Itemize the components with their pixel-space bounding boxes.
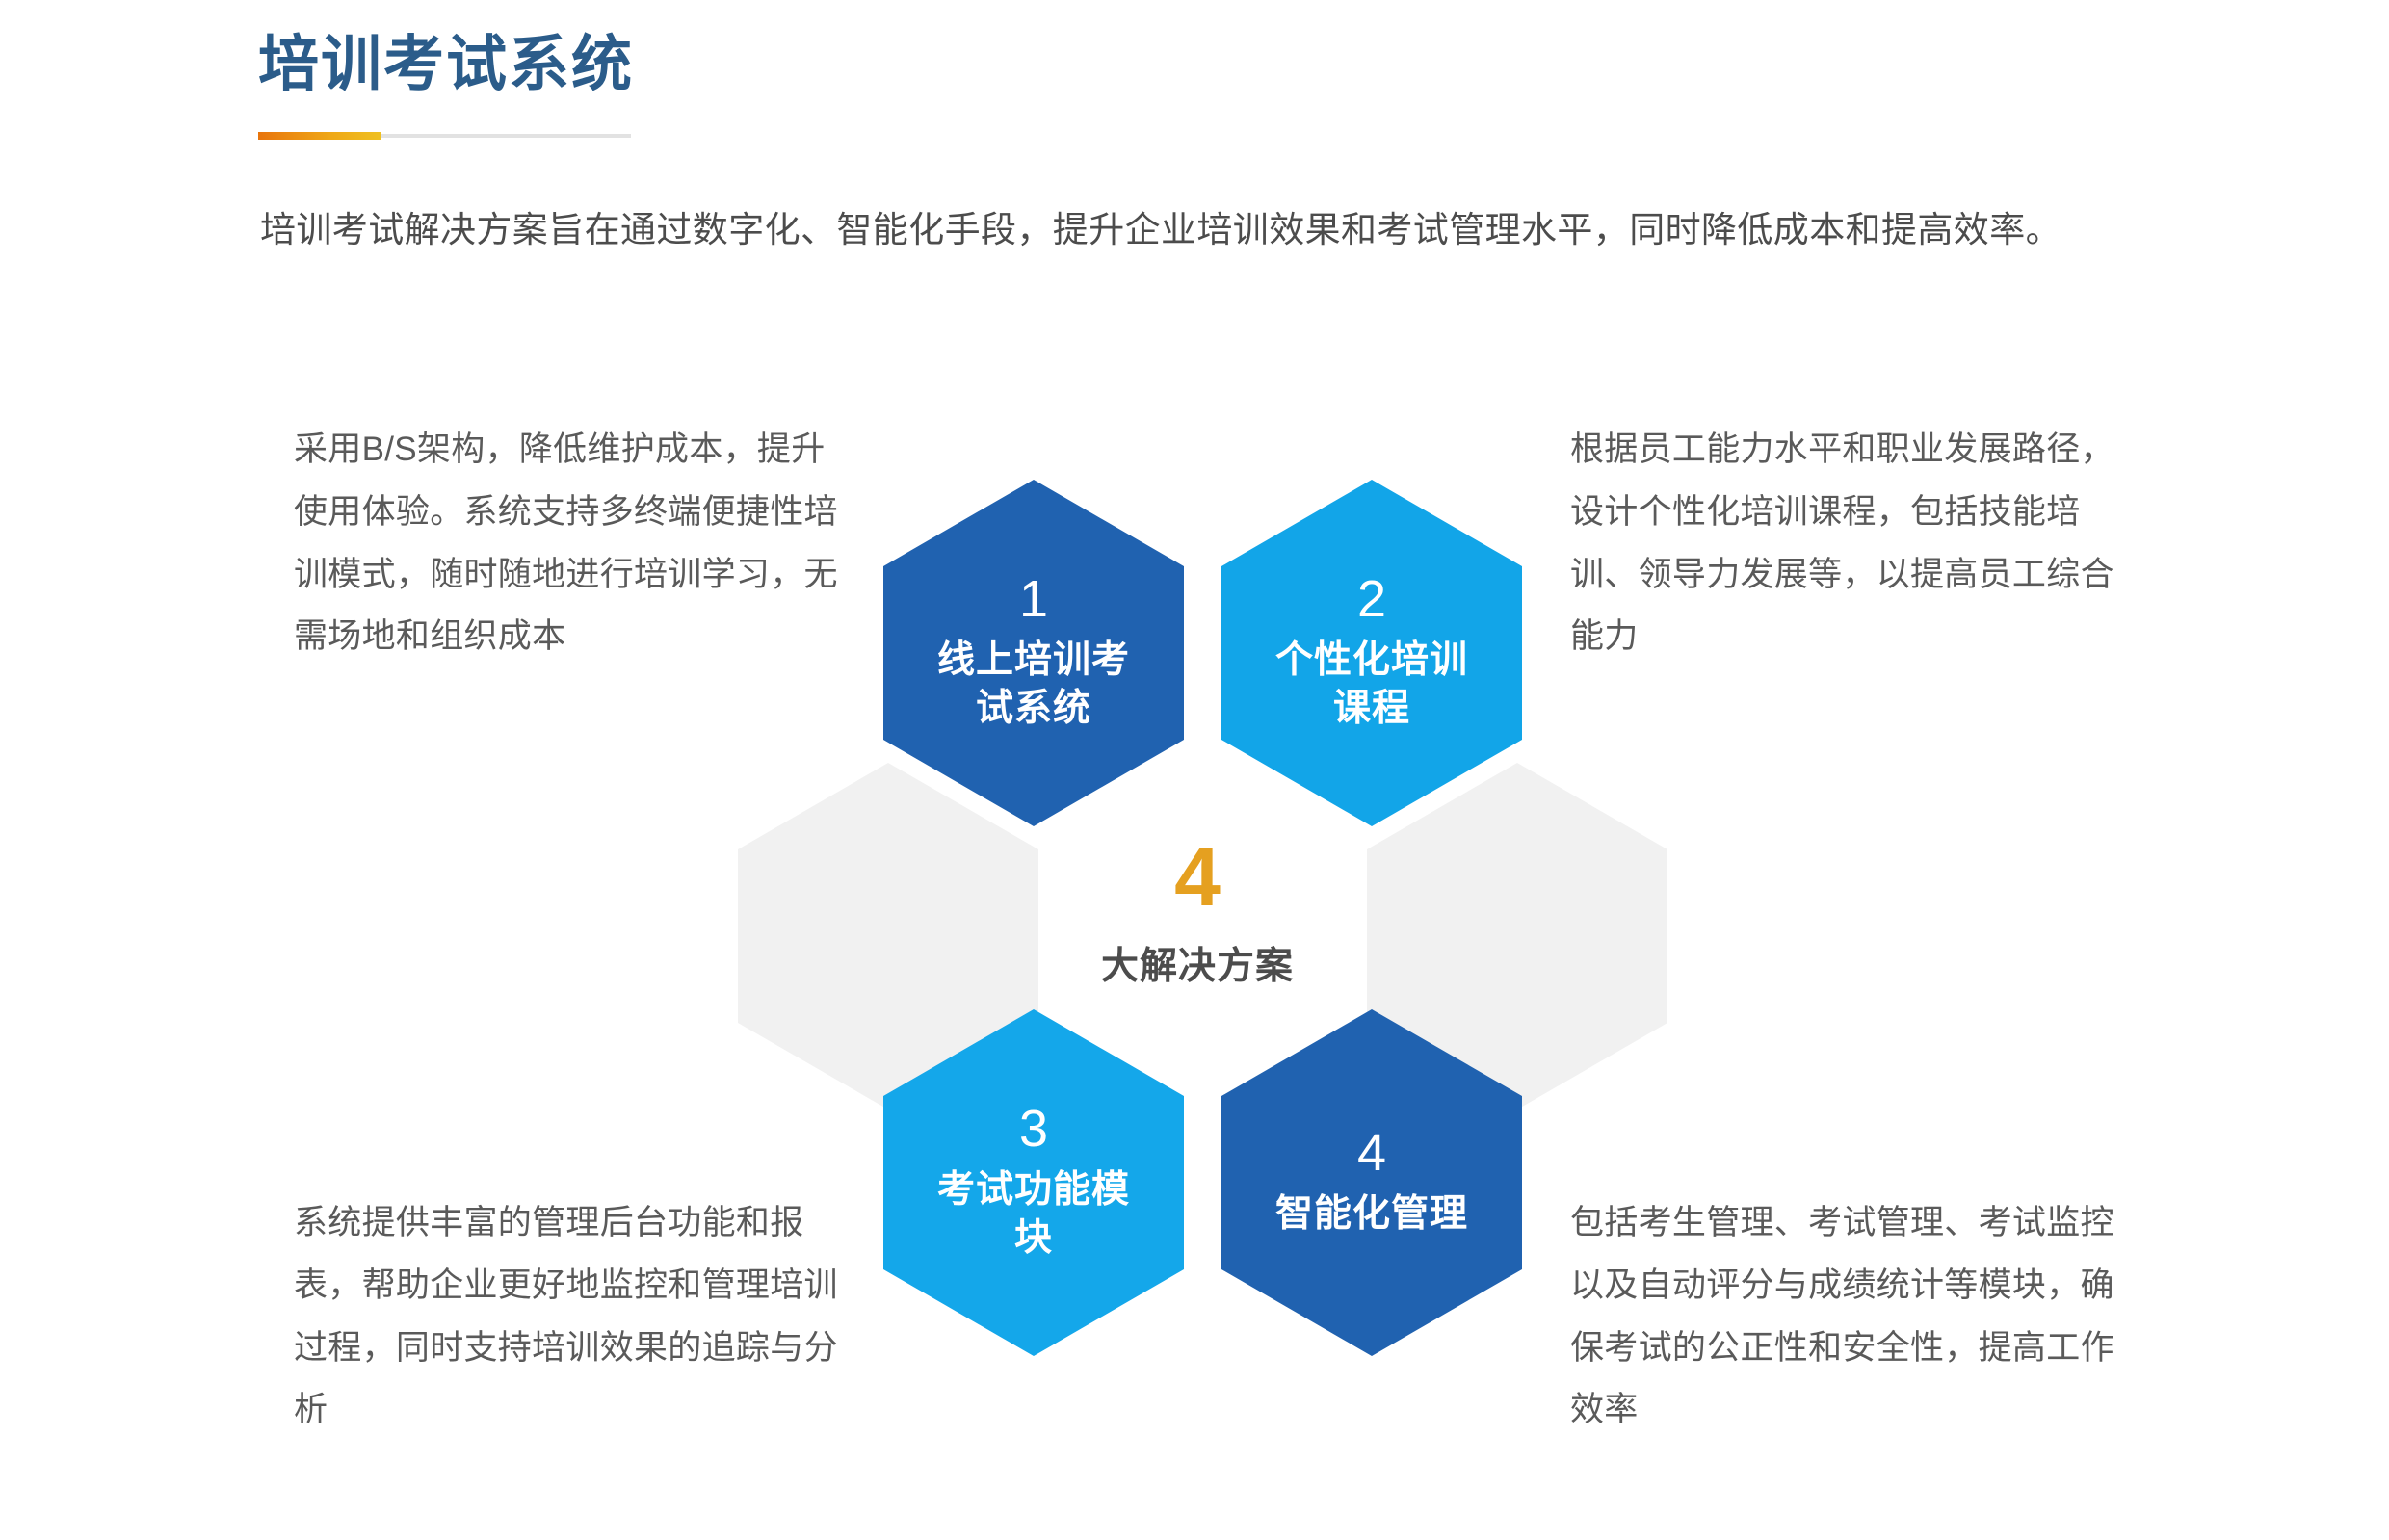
hex-cell-3-number: 3: [1019, 1103, 1048, 1155]
hex-cell-3-label: 考试功能模块: [937, 1166, 1130, 1263]
header: 培训考试系统: [258, 27, 2088, 139]
hex-cell-2-label: 个性化培训课程: [1275, 637, 1468, 733]
center-count: 4: [1053, 836, 1342, 919]
hex-cell-1-label: 线上培训考试系统: [937, 637, 1130, 733]
center-caption: 大解决方案: [1053, 936, 1342, 990]
slide-root: 培训考试系统 培训考试解决方案旨在通过数字化、智能化手段，提升企业培训效果和考试…: [0, 0, 2389, 1540]
lead-paragraph: 培训考试解决方案旨在通过数字化、智能化手段，提升企业培训效果和考试管理水平，同时…: [260, 202, 2245, 257]
hex-cell-4-label: 智能化管理: [1275, 1190, 1468, 1239]
description-top-left: 采用B/S架构，降低维护成本，提升使用体验。系统支持多终端便捷性培训模式，随时随…: [294, 419, 853, 668]
hex-cell-1[interactable]: 1 线上培训考试系统: [883, 480, 1184, 826]
page-title: 培训考试系统: [258, 27, 2088, 103]
hex-cell-1-number: 1: [1019, 573, 1048, 625]
description-top-right: 根据员工能力水平和职业发展路径，设计个性化培训课程，包括技能培训、领导力发展等，…: [1570, 419, 2129, 668]
description-bottom-left: 系统提供丰富的管理后台功能和报表，帮助企业更好地监控和管理培训过程，同时支持培训…: [294, 1192, 853, 1442]
hex-cell-2[interactable]: 2 个性化培训课程: [1221, 480, 1522, 826]
hex-cell-2-number: 2: [1357, 573, 1386, 625]
center-summary: 4 大解决方案: [1053, 836, 1342, 990]
underline-orange-accent: [258, 132, 381, 140]
hex-cell-4-number: 4: [1357, 1127, 1386, 1179]
description-bottom-right: 包括考生管理、考试管理、考试监控以及自动评分与成绩统计等模块，确保考试的公正性和…: [1570, 1192, 2129, 1442]
title-underline: [258, 132, 631, 139]
